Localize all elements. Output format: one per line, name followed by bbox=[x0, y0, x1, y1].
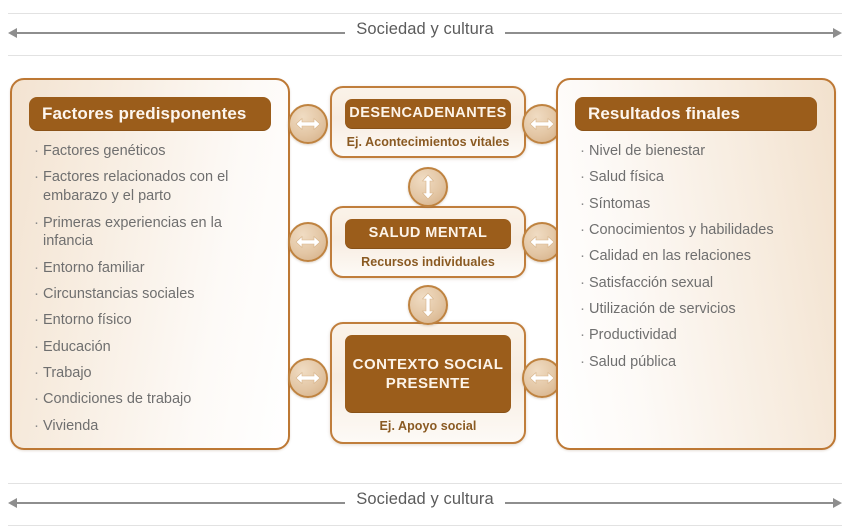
social-context-title-pill: CONTEXTO SOCIAL PRESENTE bbox=[345, 335, 511, 413]
mental-health-title: SALUD MENTAL bbox=[369, 225, 488, 242]
triggers-box: DESENCADENANTES Ej. Acontecimientos vita… bbox=[330, 86, 526, 158]
triggers-subtitle: Ej. Acontecimientos vitales bbox=[338, 135, 518, 149]
final-outcomes-list: Nivel de bienestar Salud física Síntomas… bbox=[580, 142, 820, 379]
list-item: Circunstancias sociales bbox=[34, 285, 274, 304]
band-rule-upper bbox=[8, 483, 842, 484]
list-item: Vivienda bbox=[34, 417, 274, 436]
predisposing-factors-header: Factores predisponentes bbox=[29, 97, 271, 131]
mental-health-box: SALUD MENTAL Recursos individuales bbox=[330, 206, 526, 278]
list-item: Entorno familiar bbox=[34, 259, 274, 278]
band-rule-upper bbox=[8, 13, 842, 14]
list-item: Factores relacionados con el embarazo y … bbox=[34, 168, 274, 206]
final-outcomes-header: Resultados finales bbox=[575, 97, 817, 131]
band-rule-lower bbox=[8, 525, 842, 526]
list-item: Primeras experiencias en la infancia bbox=[34, 214, 274, 252]
list-item: Educación bbox=[34, 338, 274, 357]
social-context-subtitle: Ej. Apoyo social bbox=[338, 419, 518, 433]
list-item: Calidad en las relaciones bbox=[580, 247, 820, 266]
list-item: Factores genéticos bbox=[34, 142, 274, 161]
double-arrow-horizontal-icon bbox=[288, 222, 328, 262]
final-outcomes-panel: Resultados finales Nivel de bienestar Sa… bbox=[556, 78, 836, 450]
top-society-culture-band: Sociedad y cultura bbox=[0, 0, 850, 58]
list-item: Productividad bbox=[580, 326, 820, 345]
social-context-title: CONTEXTO SOCIAL PRESENTE bbox=[345, 355, 511, 393]
band-rule-lower bbox=[8, 55, 842, 56]
double-arrow-vertical-icon bbox=[408, 167, 448, 207]
list-item: Entorno físico bbox=[34, 311, 274, 330]
predisposing-factors-list: Factores genéticos Factores relacionados… bbox=[34, 142, 274, 443]
list-item: Salud pública bbox=[580, 353, 820, 372]
mental-health-title-pill: SALUD MENTAL bbox=[345, 219, 511, 249]
double-arrow-horizontal-icon bbox=[288, 358, 328, 398]
bottom-society-culture-band: Sociedad y cultura bbox=[0, 470, 850, 528]
list-item: Utilización de servicios bbox=[580, 300, 820, 319]
mental-health-subtitle: Recursos individuales bbox=[338, 255, 518, 269]
top-band-label: Sociedad y cultura bbox=[0, 20, 850, 39]
bottom-band-label-text: Sociedad y cultura bbox=[345, 490, 505, 508]
list-item: Síntomas bbox=[580, 195, 820, 214]
list-item: Salud física bbox=[580, 168, 820, 187]
predisposing-factors-panel: Factores predisponentes Factores genétic… bbox=[10, 78, 290, 450]
double-arrow-horizontal-icon bbox=[288, 104, 328, 144]
list-item: Condiciones de trabajo bbox=[34, 390, 274, 409]
final-outcomes-title: Resultados finales bbox=[575, 104, 740, 124]
list-item: Conocimientos y habilidades bbox=[580, 221, 820, 240]
double-arrow-vertical-icon bbox=[408, 285, 448, 325]
list-item: Nivel de bienestar bbox=[580, 142, 820, 161]
triggers-title: DESENCADENANTES bbox=[349, 105, 506, 122]
top-band-label-text: Sociedad y cultura bbox=[345, 20, 505, 38]
list-item: Trabajo bbox=[34, 364, 274, 383]
list-item: Satisfacción sexual bbox=[580, 274, 820, 293]
predisposing-factors-title: Factores predisponentes bbox=[29, 104, 246, 124]
bottom-band-label: Sociedad y cultura bbox=[0, 490, 850, 509]
triggers-title-pill: DESENCADENANTES bbox=[345, 99, 511, 129]
social-context-box: CONTEXTO SOCIAL PRESENTE Ej. Apoyo socia… bbox=[330, 322, 526, 444]
